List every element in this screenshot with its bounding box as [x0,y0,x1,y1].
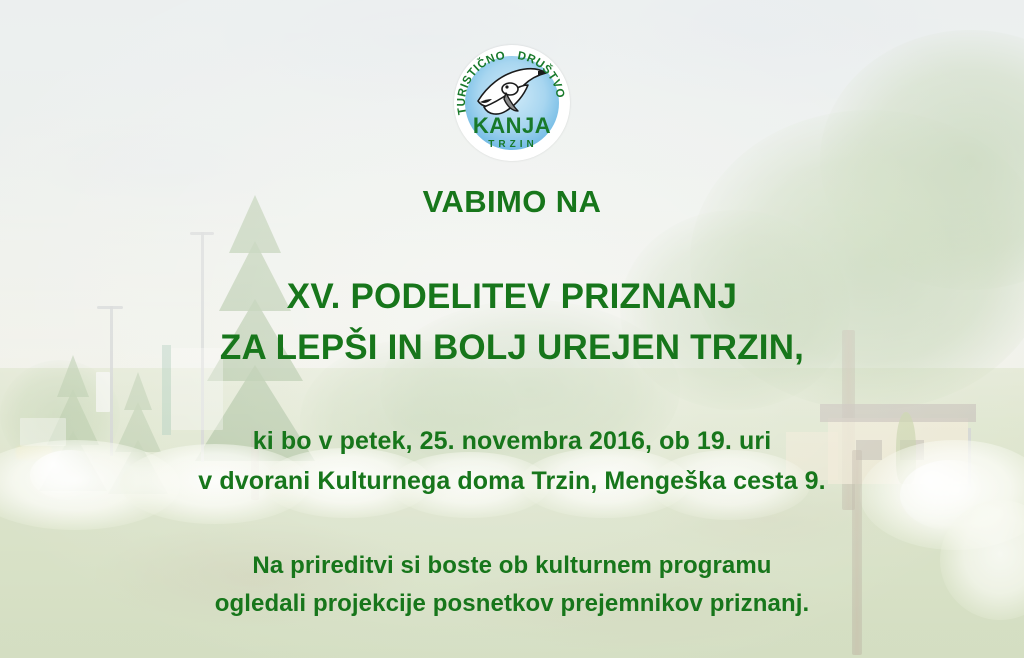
logo-artwork: TURISTIČNO DRUŠTVO KANJA TRZIN [454,45,570,161]
when-where: ki bo v petek, 25. novembra 2016, ob 19.… [0,427,1024,495]
when-line: ki bo v petek, 25. novembra 2016, ob 19.… [0,427,1024,455]
logo-place: TRZIN [488,139,537,150]
program-note: Na prireditvi si boste ob kulturnem prog… [0,553,1024,618]
poster-content: TURISTIČNO DRUŠTVO KANJA TRZIN VABIMO NA… [0,0,1024,658]
headline-line-2: ZA LEPŠI IN BOLJ UREJEN TRZIN, [0,328,1024,367]
buzzard-bird-icon [478,69,548,114]
event-poster: TURISTIČNO DRUŠTVO KANJA TRZIN VABIMO NA… [0,0,1024,658]
organization-logo: TURISTIČNO DRUŠTVO KANJA TRZIN [454,45,570,161]
headline: XV. PODELITEV PRIZNANJ ZA LEPŠI IN BOLJ … [0,277,1024,367]
invite-label: VABIMO NA [0,185,1024,220]
logo-name: KANJA [473,113,551,138]
program-line-1: Na prireditvi si boste ob kulturnem prog… [0,553,1024,580]
headline-line-1: XV. PODELITEV PRIZNANJ [0,277,1024,316]
where-line: v dvorani Kulturnega doma Trzin, Mengešk… [0,467,1024,495]
program-line-2: ogledali projekcije posnetkov prejemniko… [0,591,1024,618]
